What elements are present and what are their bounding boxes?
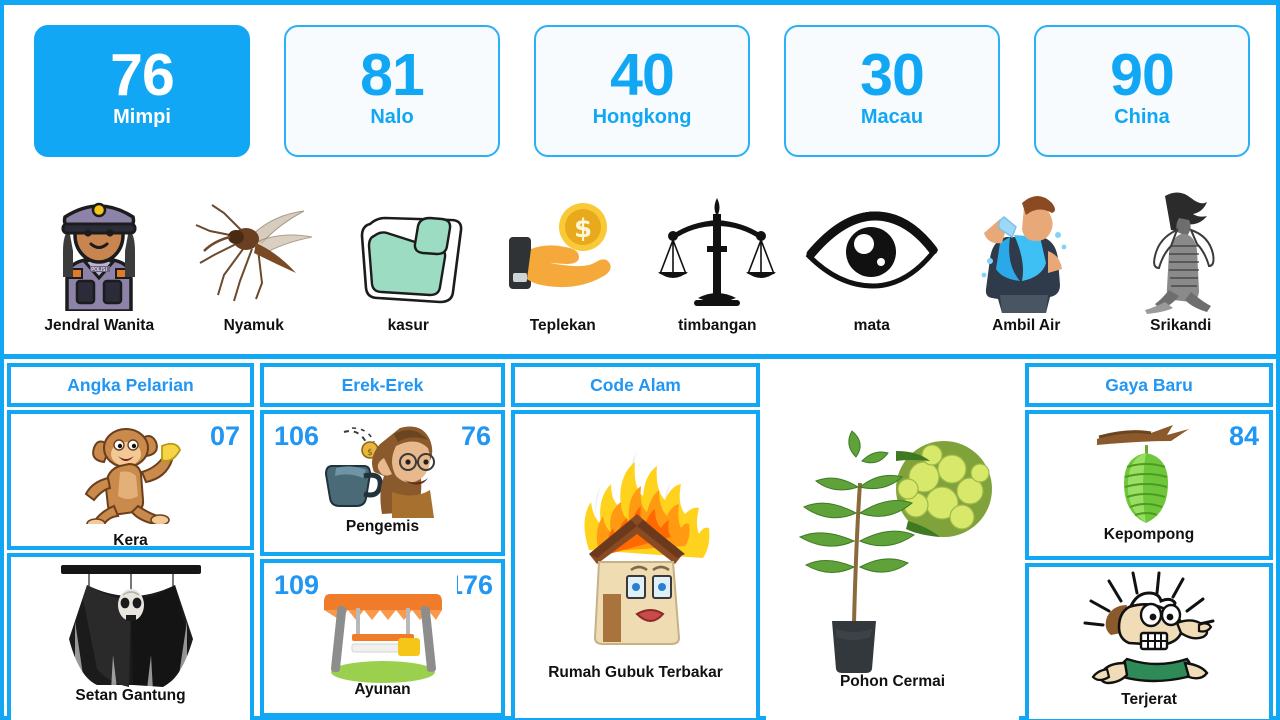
chip-number: 90: [1110, 47, 1174, 104]
card-caption: Pengemis: [264, 518, 501, 536]
symbol-jendral-wanita[interactable]: POLISI Jendral Wanita: [22, 161, 177, 353]
market-chips-row: 76 Mimpi 81 Nalo 40 Hongkong 30 Macau 90…: [4, 5, 1276, 157]
section-header: Angka Pelarian: [7, 363, 254, 407]
market-chip-nalo[interactable]: 81 Nalo: [284, 25, 500, 157]
section-code-alam: Code Alam: [508, 359, 763, 720]
sections-grid: Angka Pelarian 07: [4, 359, 1276, 720]
symbol-teplekan[interactable]: $ Teplekan: [486, 161, 641, 353]
svg-text:$: $: [574, 214, 592, 244]
hand-coin-icon: $: [486, 193, 641, 311]
symbol-nyamuk[interactable]: Nyamuk: [177, 161, 332, 353]
drinking-water-icon: [949, 193, 1104, 311]
card-caption: Kepompong: [1029, 526, 1269, 544]
symbol-caption: Jendral Wanita: [44, 317, 154, 335]
section-erek-erek: Erek-Erek 106 76 $: [257, 359, 508, 720]
market-chip-china[interactable]: 90 China: [1034, 25, 1250, 157]
hanging-ghost-icon: [11, 557, 250, 691]
section-title: Code Alam: [590, 375, 681, 396]
section-title: Gaya Baru: [1105, 375, 1193, 396]
section-header: Gaya Baru: [1025, 363, 1273, 407]
policewoman-icon: POLISI: [22, 193, 177, 311]
section-title: Angka Pelarian: [67, 375, 193, 396]
section-gaya-baru: Gaya Baru 84: [1022, 359, 1276, 720]
symbol-srikandi[interactable]: Srikandi: [1104, 161, 1259, 353]
symbol-icons-row: POLISI Jendral Wanita: [4, 157, 1276, 353]
card-setan-gantung[interactable]: Setan Gantung: [7, 553, 254, 720]
card-rumah-gubuk-terbakar[interactable]: Rumah Gubuk Terbakar: [511, 410, 760, 720]
mosquito-icon: [177, 193, 332, 311]
svg-text:$: $: [367, 448, 373, 458]
chip-label: Mimpi: [113, 106, 171, 129]
card-caption: Terjerat: [1029, 691, 1269, 709]
chip-number: 30: [860, 47, 924, 104]
card-terjerat[interactable]: Terjerat: [1025, 563, 1273, 720]
card-number-right: 84: [1229, 423, 1259, 450]
chip-label: Hongkong: [593, 106, 692, 129]
card-pengemis[interactable]: 106 76 $: [260, 410, 505, 556]
card-pohon-cermai[interactable]: Pohon Cermai: [766, 407, 1019, 720]
card-number-right: 176: [457, 572, 493, 599]
symbol-caption: kasur: [388, 317, 429, 335]
chip-label: China: [1114, 106, 1170, 129]
chip-number: 76: [110, 47, 174, 104]
market-chip-mimpi[interactable]: 76 Mimpi: [34, 25, 250, 157]
card-caption: Kera: [11, 532, 250, 550]
symbol-caption: Ambil Air: [992, 317, 1060, 335]
card-kepompong[interactable]: 84 Kepompong: [1025, 410, 1273, 560]
prediction-board: 76 Mimpi 81 Nalo 40 Hongkong 30 Macau 90…: [0, 0, 1280, 720]
symbol-caption: Teplekan: [530, 317, 596, 335]
section-unnamed: Pohon Cermai: [763, 359, 1022, 720]
balance-scale-icon: [640, 193, 795, 311]
section-title: Erek-Erek: [342, 375, 424, 396]
card-number-left: 106: [274, 423, 319, 450]
market-chip-hongkong[interactable]: 40 Hongkong: [534, 25, 750, 157]
chip-number: 81: [360, 47, 424, 104]
chip-number: 40: [610, 47, 674, 104]
cermai-tree-icon: [766, 407, 1019, 673]
card-number-right: 07: [210, 423, 240, 450]
section-header: Erek-Erek: [260, 363, 505, 407]
chip-label: Macau: [861, 106, 923, 129]
symbol-timbangan[interactable]: timbangan: [640, 161, 795, 353]
symbol-caption: mata: [854, 317, 890, 335]
card-caption: Pohon Cermai: [766, 673, 1019, 691]
symbol-ambil-air[interactable]: Ambil Air: [949, 161, 1104, 353]
card-number-left: 109: [274, 572, 319, 599]
mattress-icon: [331, 193, 486, 311]
symbol-kasur[interactable]: kasur: [331, 161, 486, 353]
section-header: Code Alam: [511, 363, 760, 407]
top-panel: 76 Mimpi 81 Nalo 40 Hongkong 30 Macau 90…: [4, 5, 1276, 359]
card-ayunan[interactable]: 109 176 Ayunan: [260, 559, 505, 717]
eye-icon: [795, 193, 950, 311]
symbol-caption: timbangan: [678, 317, 756, 335]
card-caption: Rumah Gubuk Terbakar: [515, 664, 756, 682]
card-caption: Ayunan: [264, 681, 501, 699]
wayang-srikandi-icon: [1104, 193, 1259, 311]
market-chip-macau[interactable]: 30 Macau: [784, 25, 1000, 157]
chip-label: Nalo: [370, 106, 413, 129]
card-number-right: 76: [461, 423, 491, 450]
section-angka-pelarian: Angka Pelarian 07: [4, 359, 257, 720]
svg-text:POLISI: POLISI: [91, 267, 107, 273]
burning-house-icon: [515, 414, 756, 672]
card-caption: Setan Gantung: [11, 687, 250, 705]
symbol-caption: Srikandi: [1150, 317, 1211, 335]
card-kera[interactable]: 07: [7, 410, 254, 550]
tangled-man-icon: [1029, 567, 1269, 691]
symbol-mata[interactable]: mata: [795, 161, 950, 353]
section-header-blank: [766, 363, 1019, 407]
symbol-caption: Nyamuk: [224, 317, 284, 335]
